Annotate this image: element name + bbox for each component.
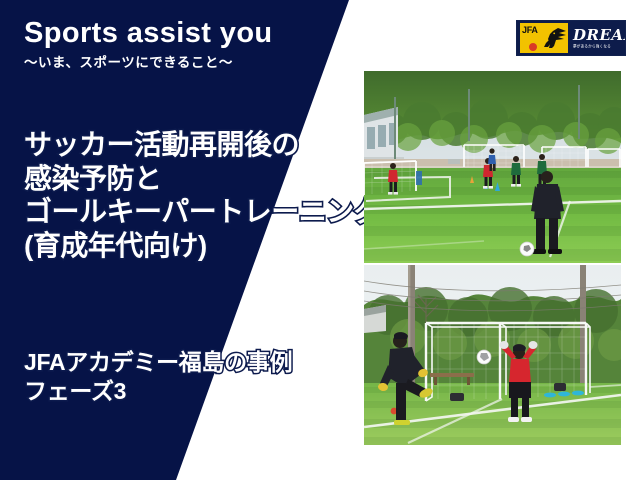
jfa-crow-icon bbox=[537, 26, 567, 50]
headline-block: サッカー活動再開後の 感染予防と ゴールキーパートレーニング (育成年代向け) bbox=[24, 128, 384, 262]
football-icon bbox=[529, 43, 537, 51]
program-subtitle: 〜いま、スポーツにできること〜 bbox=[24, 51, 354, 71]
headline-line-4: (育成年代向け) bbox=[24, 229, 384, 263]
photo-training-field-wide bbox=[364, 71, 621, 263]
slide-root: Sports assist you 〜いま、スポーツにできること〜 JFA DR… bbox=[0, 0, 640, 480]
logo-tagline: 夢があるから強くなる bbox=[573, 45, 626, 49]
subheadline-line-1: JFAアカデミー福島の事例 bbox=[24, 348, 384, 377]
headline-line-1: サッカー活動再開後の bbox=[24, 128, 384, 162]
jfa-crest: JFA bbox=[520, 23, 568, 53]
header: Sports assist you 〜いま、スポーツにできること〜 bbox=[24, 18, 354, 71]
program-title: Sports assist you bbox=[24, 18, 354, 48]
photo-goalkeeper-catch bbox=[364, 265, 621, 445]
logo-wordmark: DREAM bbox=[573, 28, 626, 43]
headline-line-2: 感染予防と bbox=[24, 162, 384, 196]
jfa-badge-label: JFA bbox=[522, 26, 538, 35]
subheadline-line-2: フェーズ3 bbox=[24, 377, 384, 406]
logo-wordmark-group: DREAM 夢があるから強くなる bbox=[573, 28, 626, 49]
subheadline-block: JFAアカデミー福島の事例 フェーズ3 bbox=[24, 348, 384, 406]
jfa-dream-logo: JFA DREAM 夢があるから強くなる bbox=[516, 20, 626, 56]
headline-line-3: ゴールキーパートレーニング bbox=[24, 195, 384, 229]
